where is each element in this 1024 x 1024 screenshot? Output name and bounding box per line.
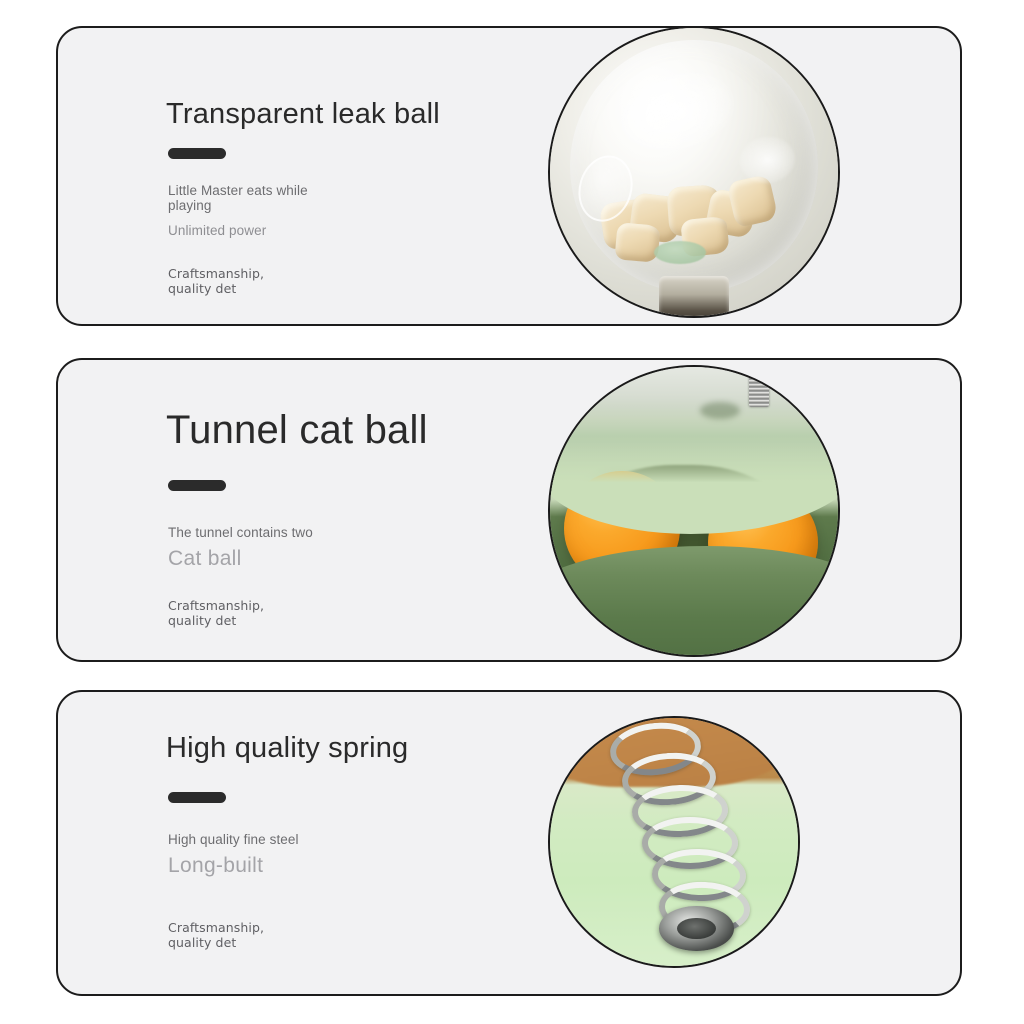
feature-text-block: High quality fine steel Long-built xyxy=(168,832,468,879)
accent-dash-divider xyxy=(168,792,226,803)
photo-inner xyxy=(550,28,838,316)
feature-card-tunnel-cat-ball[interactable]: Tunnel cat ball The tunnel contains two … xyxy=(56,358,962,662)
feature-card-high-quality-spring[interactable]: High quality spring High quality fine st… xyxy=(56,690,962,996)
feature-text-block: Little Master eats while playing Unlimit… xyxy=(168,183,468,239)
feature-secondary-text: Cat ball xyxy=(168,546,468,572)
card-text-column: Tunnel cat ball The tunnel contains two … xyxy=(166,360,526,660)
product-photo-transparent-leak-ball xyxy=(548,26,840,318)
craftsmanship-note: Craftsmanship, quality det xyxy=(168,266,264,296)
feature-primary-text: High quality fine steel xyxy=(168,832,318,847)
card-title: Tunnel cat ball xyxy=(166,408,428,453)
mint-treat xyxy=(654,241,706,264)
tunnel-shadow xyxy=(700,402,740,419)
product-photo-high-quality-spring xyxy=(548,716,800,968)
feature-secondary-text: Long-built xyxy=(168,853,468,879)
card-text-column: High quality spring High quality fine st… xyxy=(166,692,526,994)
spring-detail xyxy=(749,376,769,408)
feature-secondary-text: Unlimited power xyxy=(168,223,468,239)
spring-base-mount xyxy=(659,906,733,951)
accent-dash-divider xyxy=(168,480,226,491)
craftsmanship-note: Craftsmanship, quality det xyxy=(168,920,264,950)
product-photo-tunnel-cat-ball xyxy=(548,365,840,657)
feature-text-block: The tunnel contains two Cat ball xyxy=(168,525,468,572)
treat-chunk xyxy=(615,222,661,263)
feature-primary-text: Little Master eats while playing xyxy=(168,183,318,213)
card-title: Transparent leak ball xyxy=(166,98,440,131)
feature-primary-text: The tunnel contains two xyxy=(168,525,318,540)
card-title: High quality spring xyxy=(166,732,408,765)
accent-dash-divider xyxy=(168,148,226,159)
product-feature-page: Transparent leak ball Little Master eats… xyxy=(0,0,1024,1024)
tunnel-floor xyxy=(548,546,840,657)
card-text-column: Transparent leak ball Little Master eats… xyxy=(166,28,526,324)
ball-screw-neck xyxy=(659,276,728,318)
craftsmanship-note: Craftsmanship, quality det xyxy=(168,598,264,628)
photo-inner xyxy=(550,367,838,655)
photo-inner xyxy=(550,718,798,966)
feature-card-transparent-leak-ball[interactable]: Transparent leak ball Little Master eats… xyxy=(56,26,962,326)
